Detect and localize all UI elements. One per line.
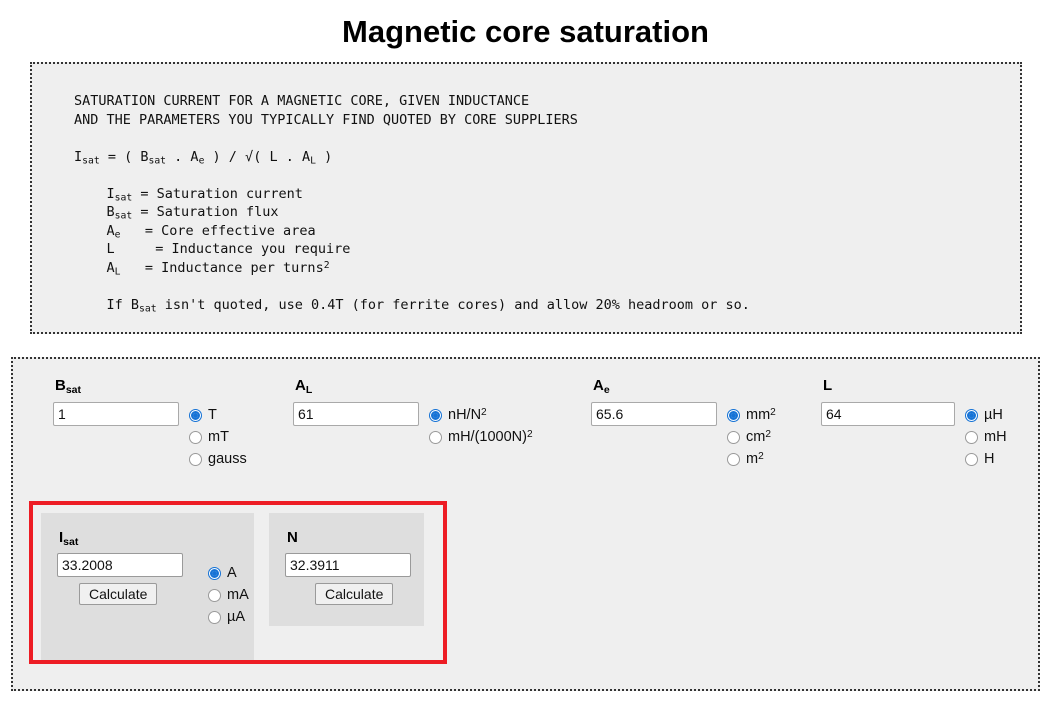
def-sub-isat: sat — [115, 192, 133, 203]
al-input[interactable] — [293, 402, 419, 426]
ae-unit-group: mm2 cm2 m2 — [727, 402, 776, 470]
n-calculate-button[interactable]: Calculate — [315, 583, 393, 605]
ae-unit-sup-m: 2 — [758, 451, 764, 462]
radio-icon-selected[interactable] — [727, 409, 740, 422]
label-ae: Ae — [593, 377, 776, 395]
label-al: AL — [295, 377, 533, 395]
al-unit-label-mh: mH/(1000N)2 — [448, 429, 533, 445]
isat-calculate-button[interactable]: Calculate — [79, 583, 157, 605]
ae-unit-option-mm2[interactable]: mm2 — [727, 404, 776, 426]
n-output-field[interactable] — [285, 553, 411, 577]
bsat-unit-option-gauss[interactable]: gauss — [189, 448, 247, 470]
def-text-l: = Inductance you require — [155, 241, 350, 257]
ae-unit-text-mm: mm — [746, 407, 770, 423]
result-panel-isat: Isat Calculate A mA µA — [41, 513, 254, 660]
label-ae-subscript: e — [604, 384, 610, 396]
results-highlight-box: Isat Calculate A mA µA — [29, 501, 447, 664]
radio-icon[interactable] — [189, 431, 202, 444]
bsat-unit-option-t[interactable]: T — [189, 404, 247, 426]
info-text: SATURATION CURRENT FOR A MAGNETIC CORE, … — [32, 64, 1020, 314]
al-unit-option-nh[interactable]: nH/N2 — [429, 404, 533, 426]
al-unit-group: nH/N2 mH/(1000N)2 — [429, 402, 533, 448]
radio-icon[interactable] — [208, 589, 221, 602]
label-bsat-subscript: sat — [66, 384, 81, 396]
al-unit-sup-nh: 2 — [481, 407, 487, 418]
info-note: If Bsat isn't quoted, use 0.4T (for ferr… — [74, 296, 750, 315]
l-unit-label-h: H — [984, 451, 994, 467]
formula-sub-bsat: sat — [148, 155, 166, 166]
field-group-al: AL nH/N2 mH/(1000N)2 — [293, 377, 533, 448]
field-group-ae: Ae mm2 cm2 m2 — [591, 377, 776, 470]
l-unit-label-mh: mH — [984, 429, 1007, 445]
label-n: N — [287, 529, 424, 547]
isat-unit-label-a: A — [227, 565, 237, 581]
bsat-unit-label-gauss: gauss — [208, 451, 247, 467]
label-al-subscript: L — [306, 384, 312, 396]
isat-unit-label-ua: µA — [227, 609, 245, 625]
radio-icon[interactable] — [208, 611, 221, 624]
bsat-unit-label-mt: mT — [208, 429, 229, 445]
isat-output-field[interactable] — [57, 553, 183, 577]
l-unit-option-uh[interactable]: µH — [965, 404, 1007, 426]
bsat-unit-group: T mT gauss — [189, 402, 247, 470]
l-unit-group: µH mH H — [965, 402, 1007, 470]
ae-unit-label-cm2: cm2 — [746, 429, 771, 445]
calculator-panel: Bsat T mT gauss AL — [11, 357, 1040, 691]
def-text-isat: = Saturation current — [140, 186, 303, 202]
bsat-input[interactable] — [53, 402, 179, 426]
isat-unit-option-ma[interactable]: mA — [208, 584, 249, 606]
radio-icon-selected[interactable] — [429, 409, 442, 422]
radio-icon[interactable] — [429, 431, 442, 444]
result-panel-n: N Calculate — [269, 513, 424, 626]
label-isat: Isat — [59, 529, 254, 547]
isat-unit-group: A mA µA — [208, 560, 249, 628]
al-unit-sup-mh: 2 — [527, 429, 533, 440]
info-line-1: SATURATION CURRENT FOR A MAGNETIC CORE, … — [74, 93, 529, 109]
label-n-symbol: N — [287, 529, 298, 546]
label-l-symbol: L — [823, 377, 832, 394]
ae-unit-text-cm: cm — [746, 429, 765, 445]
formula-sub-isat: sat — [82, 155, 100, 166]
def-text-bsat: = Saturation flux — [140, 204, 278, 220]
label-bsat: Bsat — [55, 377, 247, 395]
ae-unit-label-mm2: mm2 — [746, 407, 776, 423]
ae-input[interactable] — [591, 402, 717, 426]
radio-icon[interactable] — [189, 453, 202, 466]
def-sub-al: L — [115, 266, 121, 277]
field-group-bsat: Bsat T mT gauss — [53, 377, 247, 470]
radio-icon[interactable] — [727, 431, 740, 444]
ae-unit-option-m2[interactable]: m2 — [727, 448, 776, 470]
info-panel: SATURATION CURRENT FOR A MAGNETIC CORE, … — [30, 62, 1022, 334]
ae-unit-option-cm2[interactable]: cm2 — [727, 426, 776, 448]
radio-icon-selected[interactable] — [208, 567, 221, 580]
def-sup-squared: 2 — [324, 259, 330, 270]
al-unit-text-mh: mH/(1000N) — [448, 429, 527, 445]
radio-icon-selected[interactable] — [965, 409, 978, 422]
label-bsat-symbol: B — [55, 377, 66, 394]
radio-icon[interactable] — [965, 431, 978, 444]
ae-unit-sup-mm: 2 — [770, 407, 776, 418]
l-unit-option-mh[interactable]: mH — [965, 426, 1007, 448]
formula-sub-al: L — [310, 155, 316, 166]
isat-unit-label-ma: mA — [227, 587, 249, 603]
def-sub-ae: e — [115, 229, 121, 240]
field-group-l: L µH mH H — [821, 377, 1007, 470]
l-input[interactable] — [821, 402, 955, 426]
note-sub-bsat: sat — [139, 303, 157, 314]
al-unit-text-nh: nH/N — [448, 407, 481, 423]
formula: Isat = ( Bsat . Ae ) / √( L . AL ) — [74, 149, 332, 165]
radio-icon[interactable] — [727, 453, 740, 466]
l-unit-label-uh: µH — [984, 407, 1003, 423]
radio-icon-selected[interactable] — [189, 409, 202, 422]
bsat-unit-label-t: T — [208, 407, 217, 423]
radio-icon[interactable] — [965, 453, 978, 466]
l-unit-option-h[interactable]: H — [965, 448, 1007, 470]
isat-unit-option-a[interactable]: A — [208, 562, 249, 584]
ae-unit-sup-cm: 2 — [765, 429, 771, 440]
formula-sub-ae: e — [199, 155, 205, 166]
def-sub-bsat: sat — [115, 211, 133, 222]
ae-unit-text-m: m — [746, 451, 758, 467]
al-unit-label-nh: nH/N2 — [448, 407, 487, 423]
al-unit-option-mh[interactable]: mH/(1000N)2 — [429, 426, 533, 448]
label-l: L — [823, 377, 1007, 395]
info-line-2: AND THE PARAMETERS YOU TYPICALLY FIND QU… — [74, 112, 578, 128]
label-isat-subscript: sat — [63, 536, 78, 548]
label-ae-symbol: A — [593, 377, 604, 394]
page-title: Magnetic core saturation — [0, 0, 1051, 50]
ae-unit-label-m2: m2 — [746, 451, 764, 467]
definition-list: Isat = Saturation current Bsat = Saturat… — [74, 185, 350, 278]
isat-unit-option-ua[interactable]: µA — [208, 606, 249, 628]
bsat-unit-option-mt[interactable]: mT — [189, 426, 247, 448]
def-text-ae: = Core effective area — [145, 223, 316, 239]
label-al-symbol: A — [295, 377, 306, 394]
